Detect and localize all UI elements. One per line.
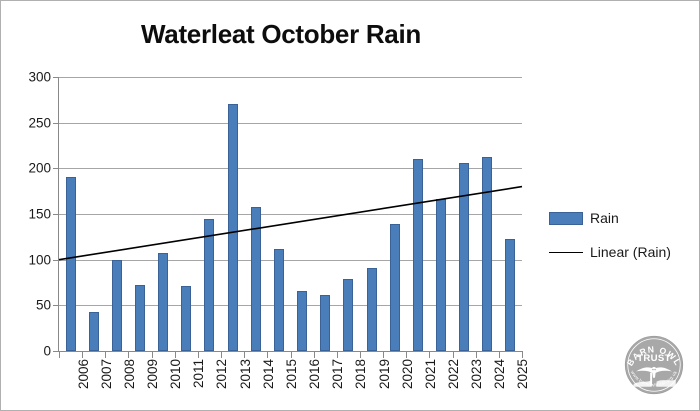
trendline-linear-rain (59, 77, 522, 351)
y-axis-label-300: 300 (28, 70, 51, 85)
x-axis-tick-3 (128, 351, 129, 358)
chart-legend: Rain Linear (Rain) (549, 201, 695, 269)
x-axis-label-2014: 2014 (261, 359, 276, 389)
y-axis-label-200: 200 (28, 161, 51, 176)
x-axis-tick-16 (429, 351, 430, 358)
chart-container: Waterleat October Rain 05010015020025030… (0, 0, 700, 411)
x-axis-label-2012: 2012 (214, 359, 229, 389)
x-axis-tick-11 (314, 351, 315, 358)
x-axis-label-2015: 2015 (284, 359, 299, 389)
x-axis-tick-15 (406, 351, 407, 358)
x-axis-labels: 2006200720082009201020112012201320142015… (59, 359, 522, 409)
x-axis-label-2025: 2025 (515, 359, 530, 389)
y-axis-label-0: 0 (43, 344, 51, 359)
y-axis-label-100: 100 (28, 252, 51, 267)
x-axis-label-2023: 2023 (469, 359, 484, 389)
y-axis-label-50: 50 (36, 298, 51, 313)
x-axis-tick-8 (244, 351, 245, 358)
x-axis-label-2024: 2024 (492, 359, 507, 389)
x-axis-label-2022: 2022 (446, 359, 461, 389)
x-axis-tick-17 (453, 351, 454, 358)
x-axis-label-2019: 2019 (377, 359, 392, 389)
x-axis-tick-18 (476, 351, 477, 358)
x-axis-tick-1 (82, 351, 83, 358)
x-axis-label-2009: 2009 (145, 359, 160, 389)
logo-main-text: TRUST (637, 353, 671, 364)
x-axis-ticks (59, 351, 522, 358)
x-axis-tick-5 (175, 351, 176, 358)
y-axis-label-150: 150 (28, 207, 51, 222)
y-axis-labels: 050100150200250300 (1, 77, 51, 351)
legend-swatch-line-icon (549, 246, 583, 259)
x-axis-label-2021: 2021 (423, 359, 438, 389)
x-axis-tick-14 (383, 351, 384, 358)
x-axis-tick-9 (267, 351, 268, 358)
barn-owl-trust-logo: BARN OWL TRUST www.barnowltrust.org.uk (622, 333, 686, 397)
legend-item-linear-rain: Linear (Rain) (549, 235, 695, 269)
x-axis-tick-4 (152, 351, 153, 358)
plot-area (59, 77, 522, 351)
chart-title: Waterleat October Rain (1, 19, 561, 50)
x-axis-label-2008: 2008 (122, 359, 137, 389)
x-axis-tick-0 (59, 351, 60, 358)
x-axis-label-2006: 2006 (76, 359, 91, 389)
legend-label-rain: Rain (590, 210, 619, 226)
x-axis-label-2020: 2020 (400, 359, 415, 389)
x-axis-tick-13 (360, 351, 361, 358)
x-axis-tick-19 (499, 351, 500, 358)
x-axis-tick-12 (337, 351, 338, 358)
x-axis-tick-10 (291, 351, 292, 358)
legend-swatch-bar-icon (549, 212, 583, 225)
x-axis-tick-7 (221, 351, 222, 358)
x-axis-label-2016: 2016 (307, 359, 322, 389)
x-axis-label-2013: 2013 (238, 359, 253, 389)
x-axis-label-2010: 2010 (168, 359, 183, 389)
x-axis-label-2018: 2018 (353, 359, 368, 389)
x-axis-tick-2 (105, 351, 106, 358)
x-axis-label-2011: 2011 (191, 359, 206, 388)
y-axis-label-250: 250 (28, 115, 51, 130)
x-axis-label-2007: 2007 (99, 359, 114, 389)
x-axis-tick-20 (522, 351, 523, 358)
x-axis-tick-6 (198, 351, 199, 358)
x-axis-label-2017: 2017 (330, 359, 345, 389)
legend-label-linear-rain: Linear (Rain) (590, 244, 671, 260)
legend-item-rain: Rain (549, 201, 695, 235)
